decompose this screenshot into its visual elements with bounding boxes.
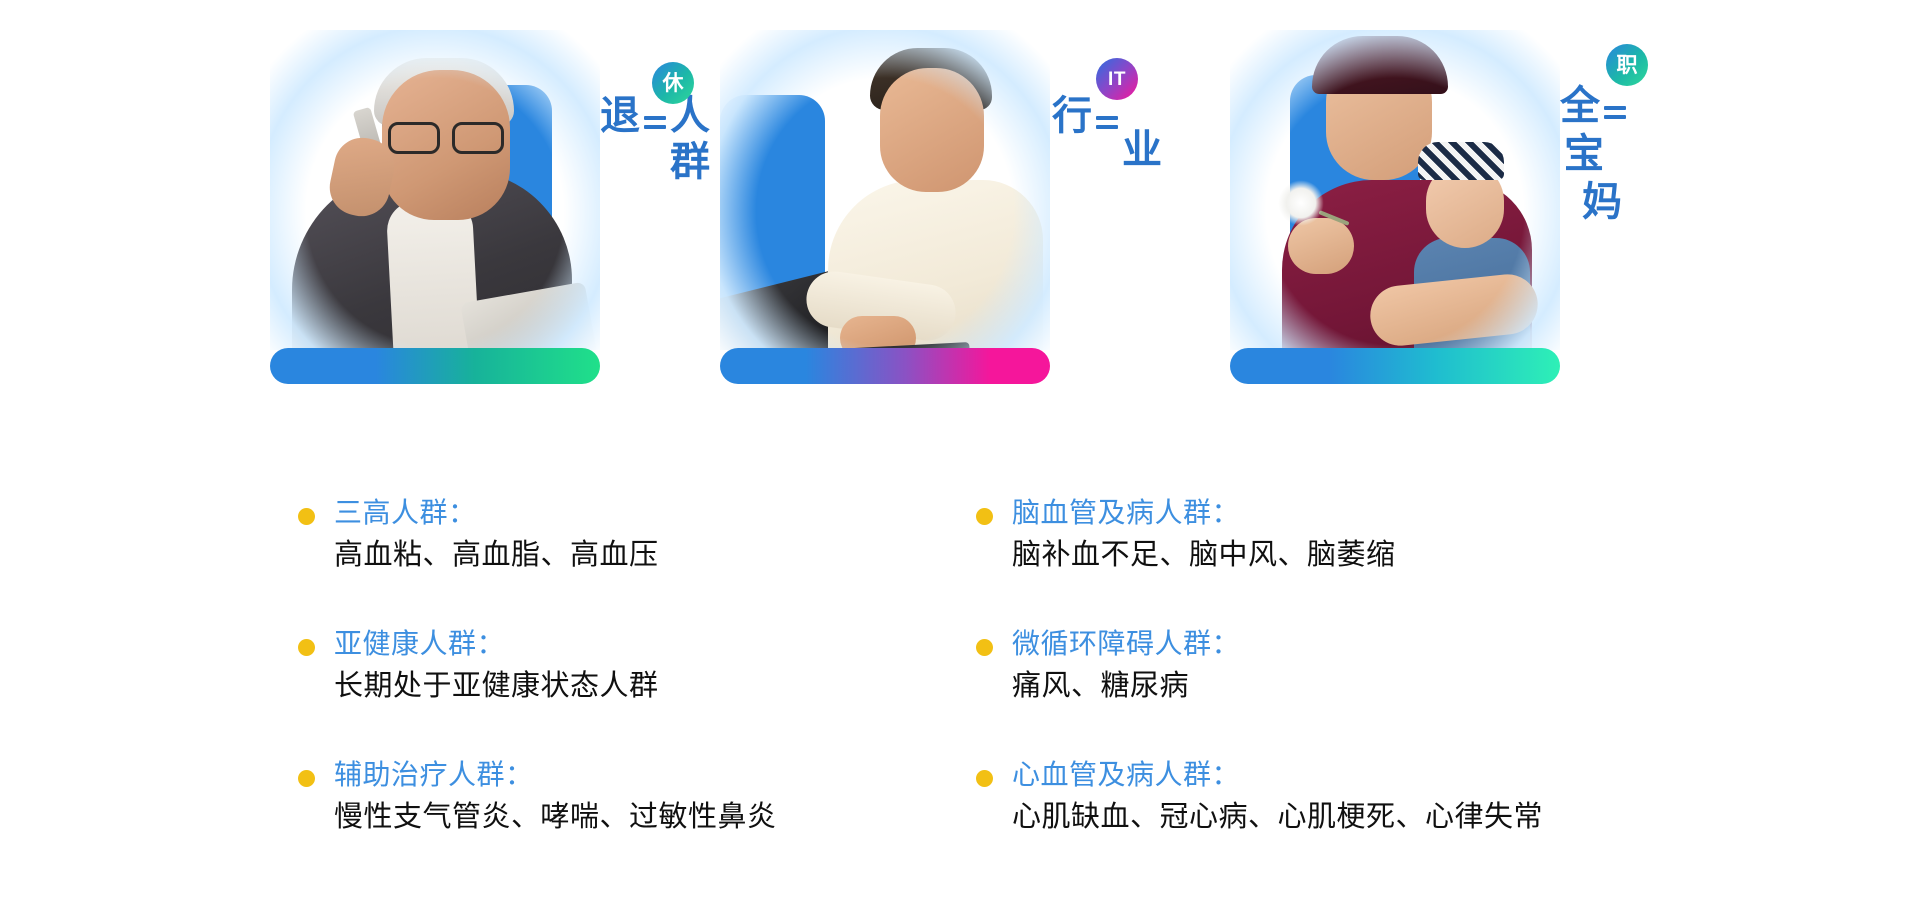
- list-item-description: 痛风、糖尿病: [1012, 667, 1648, 705]
- persona-photo-young-man: [720, 30, 1050, 350]
- list-item: 亚健康人群： 长期处于亚健康状态人群: [290, 626, 930, 705]
- list-item: 微循环障碍人群： 痛风、糖尿病: [968, 626, 1648, 705]
- list-item: 脑血管及病人群： 脑补血不足、脑中风、脑萎缩: [968, 495, 1648, 574]
- persona-photo-elderly-man: [270, 30, 600, 350]
- bullet-dot-icon: [298, 770, 315, 787]
- list-item-title: 三高人群：: [334, 495, 930, 532]
- headline-char: 全: [1560, 86, 1600, 126]
- gradient-pill: [720, 348, 1050, 384]
- persona-photo-mother-baby: [1230, 30, 1560, 350]
- persona-headline-it-industry: 行 业 IT: [1052, 96, 1162, 170]
- headline-char: 退: [600, 96, 640, 136]
- bullet-dot-icon: [976, 508, 993, 525]
- list-item-description: 高血粘、高血脂、高血压: [334, 536, 930, 574]
- persona-card-it-industry: 行 业 IT: [720, 0, 1280, 480]
- persona-badge-icon: IT: [1096, 58, 1138, 100]
- headline-char: 宝: [1564, 134, 1630, 174]
- list-column-right: 脑血管及病人群： 脑补血不足、脑中风、脑萎缩 微循环障碍人群： 痛风、糖尿病 心…: [968, 495, 1648, 837]
- persona-card-row: 退 人 群 休: [0, 0, 1920, 480]
- list-item: 心血管及病人群： 心肌缺血、冠心病、心肌梗死、心律失常: [968, 757, 1648, 836]
- list-item-title: 微循环障碍人群：: [1012, 626, 1648, 663]
- headline-char: 妈: [1582, 182, 1630, 222]
- list-item-title: 脑血管及病人群：: [1012, 495, 1648, 532]
- gradient-pill: [1230, 348, 1560, 384]
- list-item-title: 心血管及病人群：: [1012, 757, 1648, 794]
- persona-headline-retired: 退 人 群 休: [600, 96, 710, 182]
- headline-char: 行: [1052, 96, 1092, 136]
- equals-icon: [1604, 106, 1626, 124]
- persona-card-stay-at-home-mom: 全 宝 妈 职: [1230, 0, 1790, 480]
- equals-icon: [644, 116, 666, 134]
- list-item-title: 亚健康人群：: [334, 626, 930, 663]
- list-item-title: 辅助治疗人群：: [334, 757, 930, 794]
- persona-badge-icon: 休: [652, 62, 694, 104]
- gradient-pill: [270, 348, 600, 384]
- bullet-dot-icon: [298, 639, 315, 656]
- persona-headline-stay-at-home-mom: 全 宝 妈 职: [1560, 86, 1630, 222]
- headline-char: 群: [670, 142, 710, 182]
- list-item-description: 慢性支气管炎、哮喘、过敏性鼻炎: [334, 798, 930, 836]
- equals-icon: [1096, 116, 1118, 134]
- bullet-dot-icon: [298, 508, 315, 525]
- poster-canvas: 退 人 群 休: [0, 0, 1920, 920]
- list-item: 三高人群： 高血粘、高血脂、高血压: [290, 495, 930, 574]
- persona-badge-icon: 职: [1606, 44, 1648, 86]
- list-item-description: 心肌缺血、冠心病、心肌梗死、心律失常: [1012, 798, 1648, 836]
- list-item-description: 长期处于亚健康状态人群: [334, 667, 930, 705]
- list-item-description: 脑补血不足、脑中风、脑萎缩: [1012, 536, 1648, 574]
- list-column-left: 三高人群： 高血粘、高血脂、高血压 亚健康人群： 长期处于亚健康状态人群 辅助治…: [290, 495, 930, 837]
- headline-char: 业: [1122, 130, 1162, 170]
- bullet-dot-icon: [976, 639, 993, 656]
- bullet-dot-icon: [976, 770, 993, 787]
- list-item: 辅助治疗人群： 慢性支气管炎、哮喘、过敏性鼻炎: [290, 757, 930, 836]
